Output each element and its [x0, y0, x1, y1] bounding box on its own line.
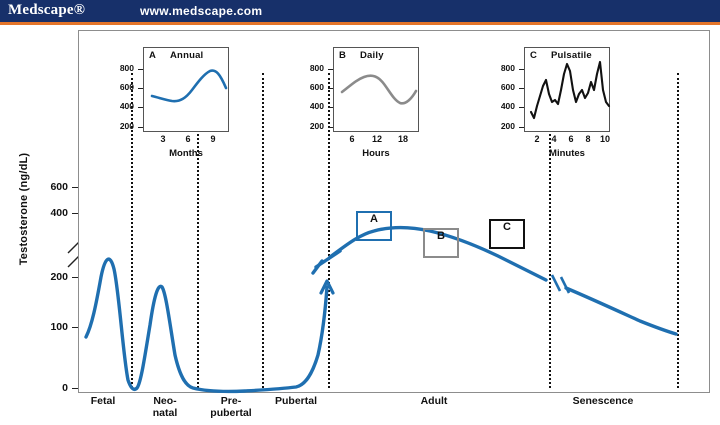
inset-b-ytick-mark-600 — [328, 88, 333, 89]
inset-a-ytick-mark-600 — [138, 88, 143, 89]
inset-a-xaxis-title: Months — [141, 148, 231, 159]
inset-c-ytick-label-400: 400 — [491, 101, 515, 111]
inset-c-ytick-label-800: 800 — [491, 63, 515, 73]
stage-label-senescence: Senescence — [558, 395, 648, 407]
inset-b-ytick-mark-400 — [328, 107, 333, 108]
inset-a-ytick-label-600: 600 — [110, 82, 134, 92]
inset-c-ytick-mark-400 — [519, 107, 524, 108]
inset-b-ytick-mark-200 — [328, 127, 333, 128]
inset-a-ytick-mark-800 — [138, 69, 143, 70]
inset-c-xaxis-title: Minutes — [522, 148, 612, 159]
inset-a-ytick-label-800: 800 — [110, 63, 134, 73]
inset-panel-a: A Annual — [143, 47, 229, 132]
stage-label-pubertal: Pubertal — [262, 395, 330, 407]
inset-c-ytick-mark-600 — [519, 88, 524, 89]
callout-box-a[interactable]: A — [356, 211, 392, 241]
inset-b-xaxis-title: Hours — [331, 148, 421, 159]
inset-c-curve — [525, 48, 611, 133]
callout-label-a: A — [370, 213, 378, 225]
inset-b-xtick-18: 18 — [393, 134, 413, 144]
inset-c-ytick-label-600: 600 — [491, 82, 515, 92]
inset-b-curve — [334, 48, 420, 133]
callout-box-c[interactable]: C — [489, 219, 525, 249]
inset-b-xtick-6: 6 — [342, 134, 362, 144]
inset-b-xtick-12: 12 — [367, 134, 387, 144]
callout-label-b: B — [437, 230, 445, 242]
medscape-header-bar: Medscape® www.medscape.com — [0, 0, 720, 22]
inset-c-ytick-mark-200 — [519, 127, 524, 128]
inset-b-ytick-label-800: 800 — [300, 63, 324, 73]
stage-label-fetal: Fetal — [74, 395, 132, 407]
inset-a-curve — [144, 48, 230, 133]
testosterone-lifespan-figure: Testosterone (ng/dL) 600 400 200 100 0 — [0, 25, 720, 425]
inset-a-xtick-9: 9 — [203, 134, 223, 144]
inset-b-ytick-label-400: 400 — [300, 101, 324, 111]
inset-b-ytick-label-600: 600 — [300, 82, 324, 92]
callout-label-c: C — [503, 221, 511, 233]
medscape-logo: Medscape® — [8, 2, 85, 19]
inset-panel-b: B Daily — [333, 47, 419, 132]
inset-c-xtick-10: 10 — [595, 134, 615, 144]
stage-label-prepubertal: Pre-pubertal — [200, 395, 262, 419]
inset-a-xtick-3: 3 — [153, 134, 173, 144]
inset-panel-c: C Pulsatile — [524, 47, 610, 132]
inset-a-ytick-mark-400 — [138, 107, 143, 108]
callout-box-b[interactable]: B — [423, 228, 459, 258]
inset-b-ytick-mark-800 — [328, 69, 333, 70]
inset-c-ytick-label-200: 200 — [491, 121, 515, 131]
medscape-url: www.medscape.com — [140, 4, 262, 18]
inset-a-xtick-6: 6 — [178, 134, 198, 144]
inset-a-ytick-label-400: 400 — [110, 101, 134, 111]
inset-a-ytick-label-200: 200 — [110, 121, 134, 131]
inset-b-ytick-label-200: 200 — [300, 121, 324, 131]
stage-label-neonatal: Neo-natal — [136, 395, 194, 419]
stage-label-adult: Adult — [404, 395, 464, 407]
inset-c-ytick-mark-800 — [519, 69, 524, 70]
inset-a-ytick-mark-200 — [138, 127, 143, 128]
